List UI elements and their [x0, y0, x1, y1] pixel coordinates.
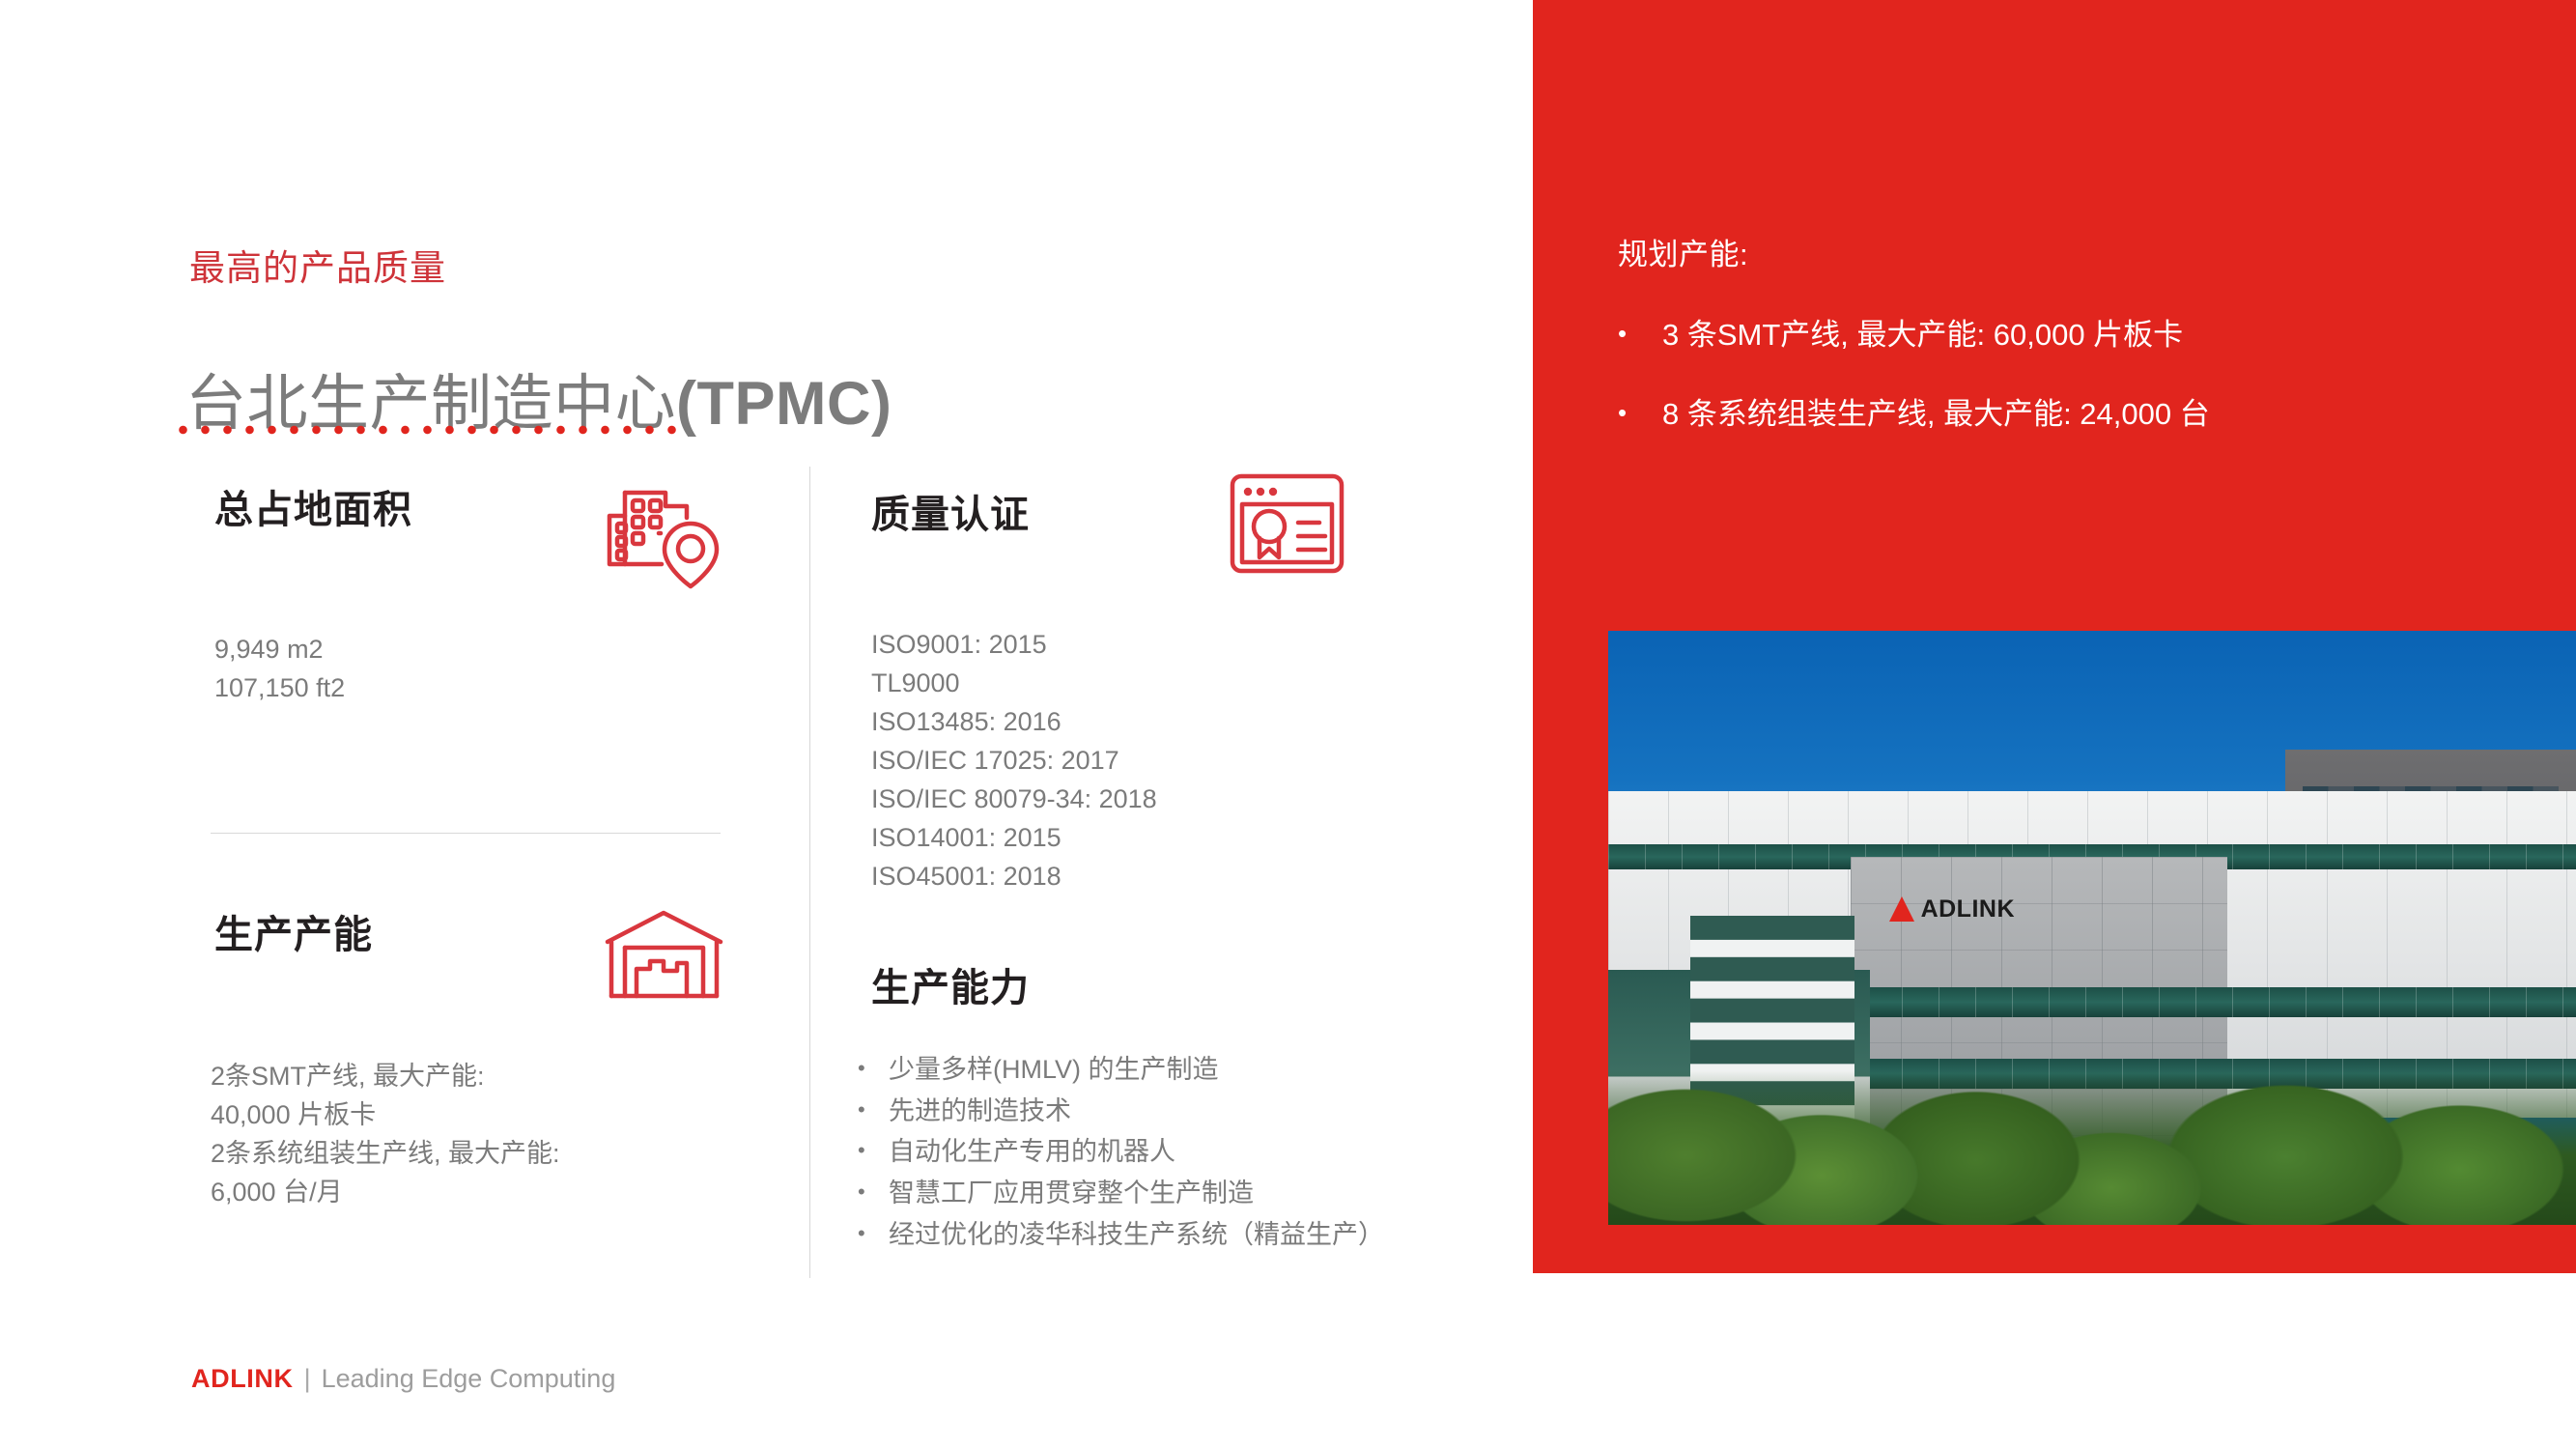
- photo-trees: [1608, 1070, 2576, 1225]
- quality-certification-list: ISO9001: 2015TL9000ISO13485: 2016ISO/IEC…: [871, 626, 1157, 896]
- planned-capacity-title: 规划产能:: [1618, 230, 1748, 273]
- list-item: • 8 条系统组装生产线, 最大产能: 24,000 台: [1618, 396, 2487, 434]
- total-area-heading: 总占地面积: [214, 478, 412, 534]
- list-item: • 少量多样(HMLV) 的生产制造: [858, 1053, 1495, 1088]
- production-ability-heading: 生产能力: [871, 956, 1030, 1012]
- cert-item: ISO14001: 2015: [871, 823, 1062, 852]
- bullet-icon: •: [858, 1053, 889, 1083]
- ability-item-label: 自动化生产专用的机器人: [889, 1135, 1175, 1170]
- ability-item-label: 先进的制造技术: [889, 1094, 1071, 1129]
- footer-tagline: Leading Edge Computing: [322, 1364, 616, 1394]
- certificate-icon: [1227, 470, 1347, 577]
- footer-branding: ADLINK | Leading Edge Computing: [191, 1364, 615, 1394]
- list-item: • 先进的制造技术: [858, 1094, 1495, 1129]
- cert-item: TL9000: [871, 668, 960, 697]
- bullet-icon: •: [1618, 317, 1662, 351]
- cert-item: ISO13485: 2016: [871, 707, 1062, 736]
- column-divider: [809, 467, 810, 1278]
- bullet-icon: •: [1618, 396, 1662, 430]
- bullet-icon: •: [858, 1094, 889, 1124]
- production-capacity-body: 2条SMT产线, 最大产能: 40,000 片板卡 2条系统组装生产线, 最大产…: [211, 1058, 560, 1212]
- dotted-divider: [172, 425, 689, 435]
- photo-building-logo: ADLINK: [1889, 895, 2015, 923]
- list-item: • 3 条SMT产线, 最大产能: 60,000 片板卡: [1618, 317, 2487, 355]
- planned-item-label: 8 条系统组装生产线, 最大产能: 24,000 台: [1662, 396, 2210, 434]
- footer-brand-name: ADLINK: [191, 1364, 294, 1394]
- cert-item: ISO9001: 2015: [871, 630, 1047, 659]
- production-ability-list: • 少量多样(HMLV) 的生产制造 • 先进的制造技术 • 自动化生产专用的机…: [858, 1053, 1495, 1259]
- planned-capacity-list: • 3 条SMT产线, 最大产能: 60,000 片板卡 • 8 条系统组装生产…: [1618, 317, 2487, 475]
- ability-item-label: 经过优化的凌华科技生产系统（精益生产）: [889, 1218, 1384, 1253]
- footer-separator: |: [304, 1364, 311, 1394]
- warehouse-icon: [604, 903, 724, 1005]
- page-title-latin: (TPMC): [676, 370, 892, 438]
- bullet-icon: •: [858, 1218, 889, 1248]
- list-item: • 智慧工厂应用贯穿整个生产制造: [858, 1177, 1495, 1211]
- ability-item-label: 少量多样(HMLV) 的生产制造: [889, 1053, 1219, 1088]
- cert-item: ISO45001: 2018: [871, 862, 1062, 891]
- list-item: • 自动化生产专用的机器人: [858, 1135, 1495, 1170]
- cert-item: ISO/IEC 80079-34: 2018: [871, 784, 1157, 813]
- building-location-icon: [604, 475, 729, 591]
- adlink-logo-text: ADLINK: [1921, 895, 2015, 923]
- planned-item-label: 3 条SMT产线, 最大产能: 60,000 片板卡: [1662, 317, 2183, 355]
- total-area-body: 9,949 m2 107,150 ft2: [214, 631, 345, 708]
- slide-eyebrow: 最高的产品质量: [189, 239, 446, 291]
- bullet-icon: •: [858, 1135, 889, 1165]
- bullet-icon: •: [858, 1177, 889, 1207]
- cert-item: ISO/IEC 17025: 2017: [871, 746, 1119, 775]
- facility-photo: ADLINK: [1608, 631, 2576, 1225]
- list-item: • 经过优化的凌华科技生产系统（精益生产）: [858, 1218, 1495, 1253]
- adlink-logo-mark-icon: [1889, 896, 1914, 922]
- production-capacity-heading: 生产产能: [214, 903, 373, 959]
- section-divider: [211, 833, 721, 834]
- quality-certification-heading: 质量认证: [871, 483, 1030, 539]
- ability-item-label: 智慧工厂应用贯穿整个生产制造: [889, 1177, 1254, 1211]
